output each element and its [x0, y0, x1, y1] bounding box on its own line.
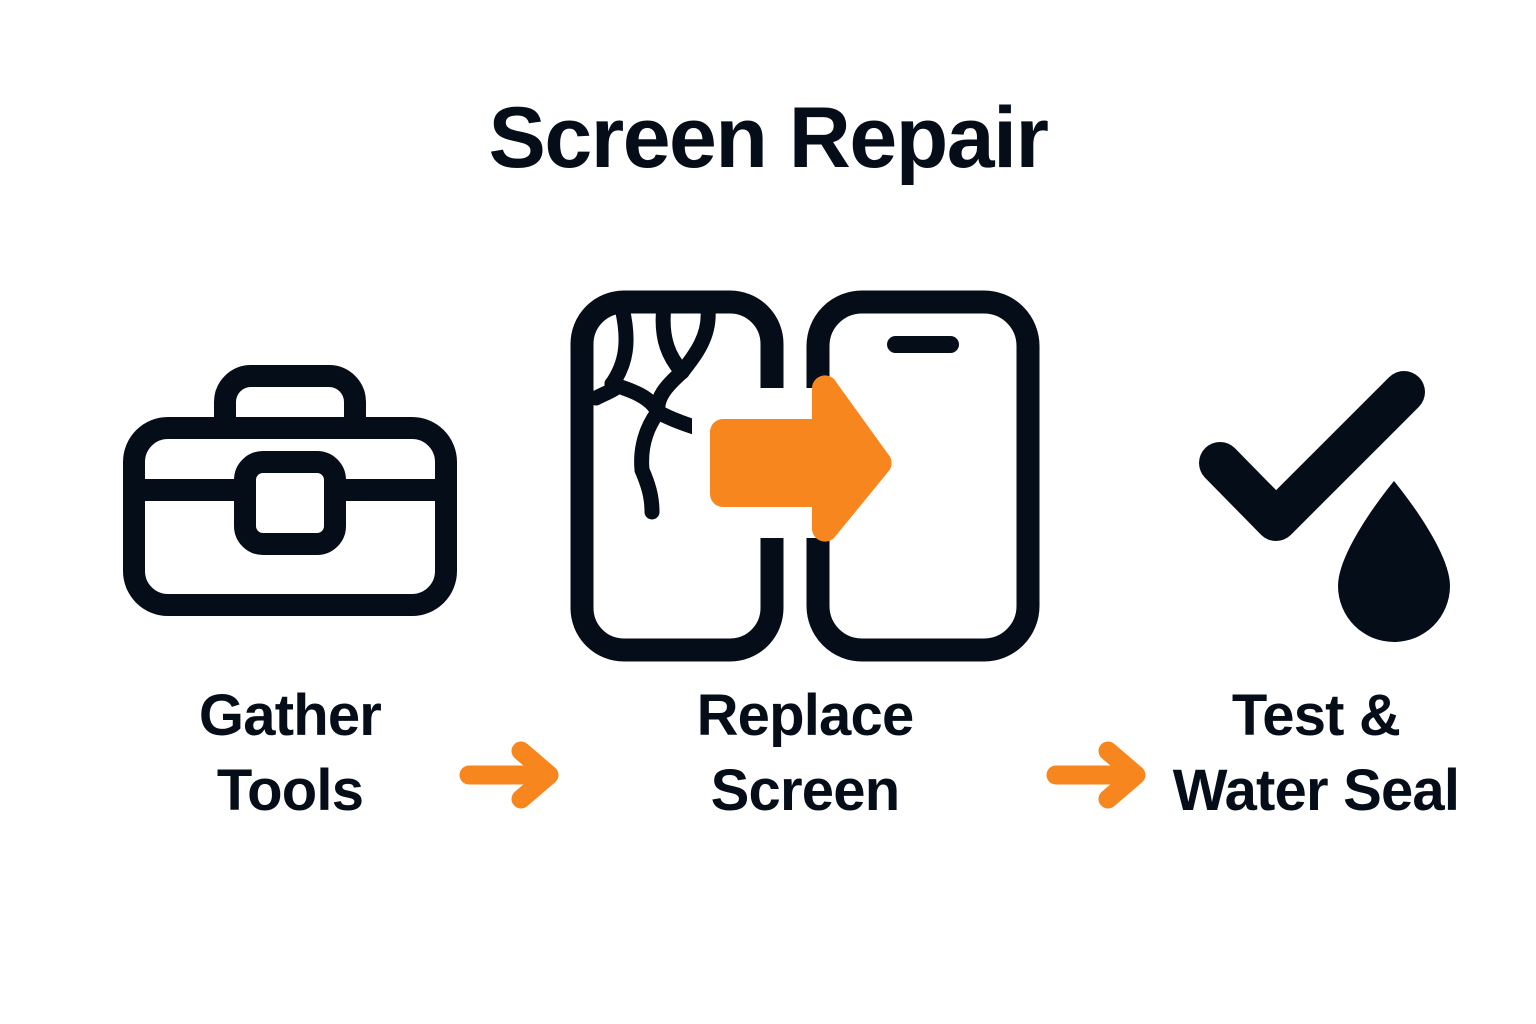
step-label-gather-tools: Gather Tools [90, 678, 490, 829]
label-line-2: Screen [560, 753, 1050, 828]
step-replace-screen [560, 280, 1050, 680]
label-line-2: Water Seal [1096, 753, 1536, 828]
phone-speaker-bar [887, 336, 959, 353]
label-line-1: Test & [1096, 678, 1536, 753]
label-line-1: Replace [560, 678, 1050, 753]
phone-swap-icon [560, 280, 1050, 660]
toolbox-icon [90, 280, 490, 660]
check-icon [1220, 392, 1404, 520]
infographic-canvas: Screen Repair [0, 0, 1536, 1024]
water-droplet-icon [1338, 481, 1450, 642]
label-line-2: Tools [90, 753, 490, 828]
step-label-replace-screen: Replace Screen [560, 678, 1050, 829]
check-droplet-icon [1120, 280, 1520, 660]
label-line-1: Gather [90, 678, 490, 753]
step-test-water-seal [1120, 280, 1520, 680]
page-title: Screen Repair [0, 95, 1536, 181]
step-label-test-water-seal: Test & Water Seal [1096, 678, 1536, 829]
step-gather-tools [90, 280, 490, 680]
process-flow [0, 280, 1536, 680]
